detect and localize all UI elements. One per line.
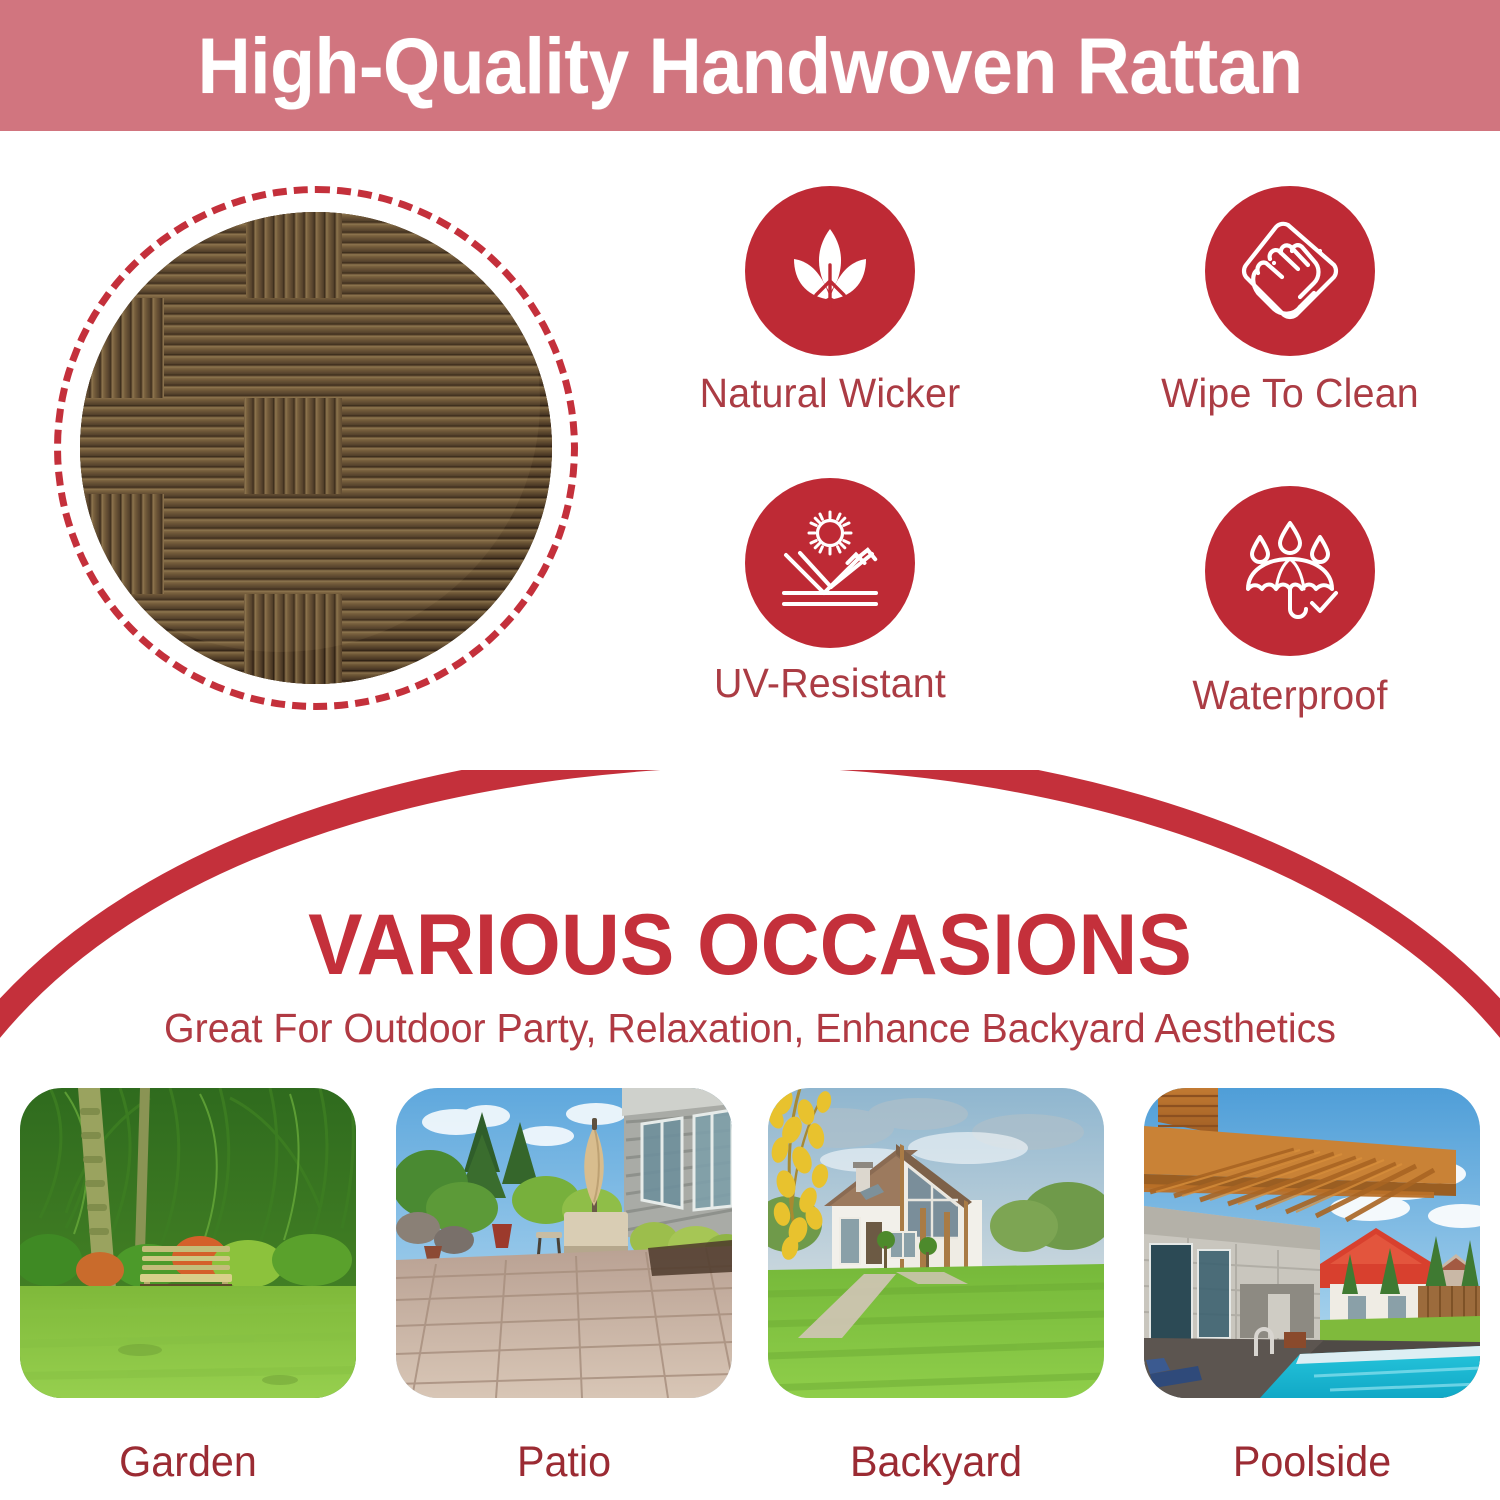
feature-badge — [745, 478, 915, 648]
occasion-label: Backyard — [775, 1438, 1098, 1487]
occasion-image-patio — [396, 1088, 732, 1398]
occasion-image-backyard — [768, 1088, 1104, 1398]
occasion-card-backyard[interactable]: Backyard — [768, 1088, 1104, 1487]
feature-label: Wipe To Clean — [1108, 370, 1473, 417]
feature-wipe-to-clean: Wipe To Clean — [1100, 186, 1480, 417]
leaf-plant-icon — [778, 219, 882, 323]
occasion-card-garden[interactable]: Garden — [20, 1088, 356, 1487]
dashed-ring — [54, 186, 578, 710]
feature-waterproof: Waterproof — [1100, 486, 1480, 719]
occasions-title: VARIOUS OCCASIONS — [38, 896, 1463, 995]
occasion-label: Patio — [403, 1438, 726, 1487]
occasion-label: Garden — [27, 1438, 350, 1487]
occasion-image-poolside — [1144, 1088, 1480, 1398]
occasions-subtitle: Great For Outdoor Party, Relaxation, Enh… — [30, 1005, 1470, 1052]
feature-label: Waterproof — [1108, 672, 1473, 719]
infographic-page: High-Quality Handwoven Rattan — [0, 0, 1500, 1500]
occasion-image-garden — [20, 1088, 356, 1398]
feature-badge — [745, 186, 915, 356]
header-band: High-Quality Handwoven Rattan — [0, 0, 1500, 131]
feature-badge — [1205, 486, 1375, 656]
hand-sponge-icon — [1234, 215, 1346, 327]
occasion-thumbnails: Garden — [0, 1088, 1500, 1500]
feature-grid: Natural Wicker — [620, 186, 1500, 746]
feature-badge — [1205, 186, 1375, 356]
feature-label: UV-Resistant — [648, 660, 1013, 707]
feature-uv-resistant: UV-Resistant — [640, 478, 1020, 707]
feature-natural-wicker: Natural Wicker — [640, 186, 1020, 417]
sun-reflect-icon — [774, 507, 886, 619]
page-title: High-Quality Handwoven Rattan — [198, 20, 1303, 112]
occasion-card-patio[interactable]: Patio — [396, 1088, 732, 1487]
occasion-label: Poolside — [1151, 1438, 1474, 1487]
occasion-card-poolside[interactable]: Poolside — [1144, 1088, 1480, 1487]
rattan-swatch — [54, 186, 578, 710]
umbrella-rain-check-icon — [1234, 515, 1346, 627]
feature-label: Natural Wicker — [648, 370, 1013, 417]
